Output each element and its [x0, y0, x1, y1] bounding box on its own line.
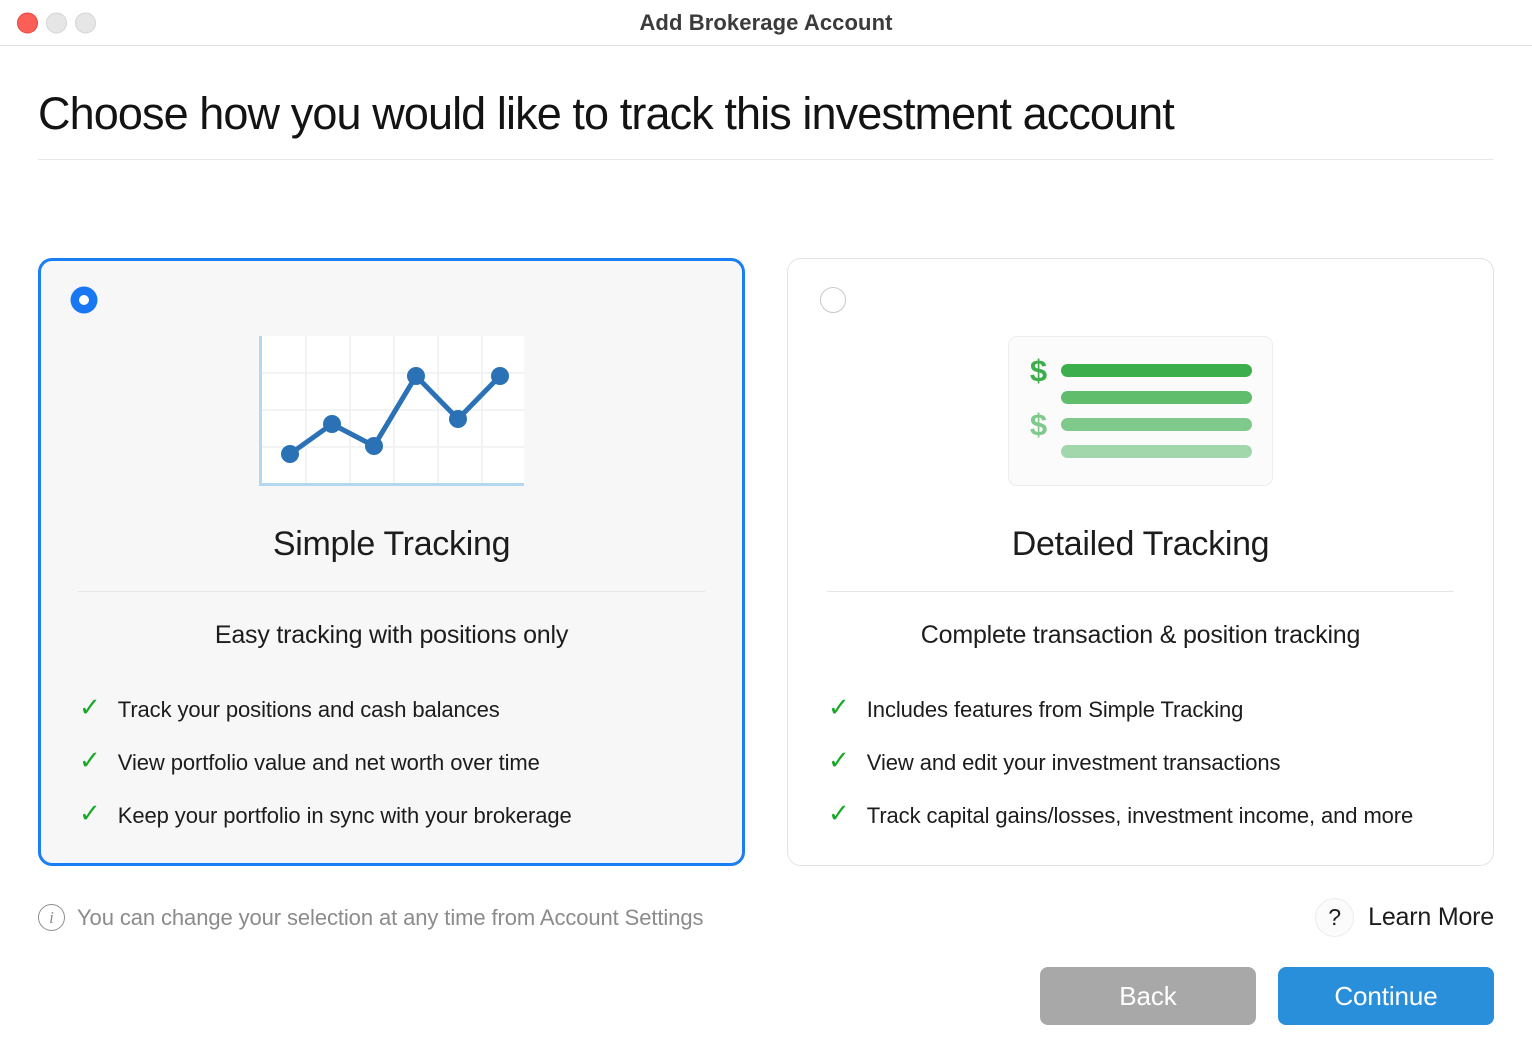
card-title-detailed: Detailed Tracking [820, 525, 1461, 564]
maximize-button[interactable] [75, 12, 96, 33]
check-icon: ✓ [79, 694, 101, 721]
feature-label: Track your positions and cash balances [118, 694, 500, 726]
money-rows: $ $ [1029, 364, 1252, 458]
info-icon: i [38, 904, 65, 931]
line-chart-svg [262, 336, 524, 483]
card-title-simple: Simple Tracking [71, 525, 712, 564]
continue-button[interactable]: Continue [1278, 967, 1494, 1025]
selection-note: i You can change your selection at any t… [38, 904, 703, 931]
option-card-simple-tracking[interactable]: Simple Tracking Easy tracking with posit… [38, 258, 745, 866]
money-bar [1061, 445, 1252, 458]
card-divider-detailed [827, 591, 1454, 592]
money-bar [1061, 391, 1252, 404]
tracking-options: Simple Tracking Easy tracking with posit… [38, 258, 1494, 866]
learn-more-link[interactable]: ? Learn More [1315, 898, 1494, 937]
money-row: $ [1029, 364, 1252, 377]
window-title: Add Brokerage Account [0, 10, 1532, 36]
radio-simple-tracking[interactable] [71, 287, 97, 313]
add-brokerage-account-window: Add Brokerage Account Choose how you wou… [0, 0, 1532, 1064]
option-card-detailed-tracking[interactable]: $ $ [787, 258, 1494, 866]
feature-label: Track capital gains/losses, investment i… [867, 800, 1413, 832]
question-mark-icon[interactable]: ? [1315, 898, 1354, 937]
learn-more-label[interactable]: Learn More [1368, 903, 1494, 932]
dialog-buttons: Back Continue [38, 967, 1494, 1045]
feature-label: Includes features from Simple Tracking [867, 694, 1243, 726]
money-bar [1061, 418, 1252, 431]
check-icon: ✓ [828, 694, 850, 721]
money-bar [1061, 364, 1252, 377]
card-subtitle-detailed: Complete transaction & position tracking [820, 621, 1461, 650]
traffic-lights [17, 12, 96, 33]
money-row: $ [1029, 418, 1252, 431]
footer-note-row: i You can change your selection at any t… [38, 898, 1494, 937]
money-row [1029, 445, 1252, 458]
detailed-tracking-illustration: $ $ [820, 331, 1461, 491]
list-item: ✓ View portfolio value and net worth ove… [79, 747, 712, 779]
selection-note-label: You can change your selection at any tim… [77, 905, 703, 931]
check-icon: ✓ [828, 747, 850, 774]
list-item: ✓ Track capital gains/losses, investment… [828, 800, 1461, 832]
feature-list-simple: ✓ Track your positions and cash balances… [71, 694, 712, 832]
money-rows-icon: $ $ [1008, 336, 1273, 486]
page-title: Choose how you would like to track this … [38, 46, 1494, 159]
list-item: ✓ View and edit your investment transact… [828, 747, 1461, 779]
check-icon: ✓ [828, 800, 850, 827]
check-icon: ✓ [79, 747, 101, 774]
card-divider-simple [78, 591, 705, 592]
money-row [1029, 391, 1252, 404]
heading-divider [38, 159, 1494, 160]
feature-list-detailed: ✓ Includes features from Simple Tracking… [820, 694, 1461, 832]
minimize-button[interactable] [46, 12, 67, 33]
dialog-content: Choose how you would like to track this … [0, 46, 1532, 1064]
feature-label: View portfolio value and net worth over … [118, 747, 540, 779]
card-subtitle-simple: Easy tracking with positions only [71, 621, 712, 650]
simple-tracking-illustration [71, 331, 712, 491]
back-button[interactable]: Back [1040, 967, 1256, 1025]
list-item: ✓ Keep your portfolio in sync with your … [79, 800, 712, 832]
line-chart-icon [259, 336, 524, 486]
check-icon: ✓ [79, 800, 101, 827]
list-item: ✓ Includes features from Simple Tracking [828, 694, 1461, 726]
feature-label: View and edit your investment transactio… [867, 747, 1281, 779]
close-button[interactable] [17, 12, 38, 33]
titlebar: Add Brokerage Account [0, 0, 1532, 46]
list-item: ✓ Track your positions and cash balances [79, 694, 712, 726]
feature-label: Keep your portfolio in sync with your br… [118, 800, 572, 832]
radio-detailed-tracking[interactable] [820, 287, 846, 313]
